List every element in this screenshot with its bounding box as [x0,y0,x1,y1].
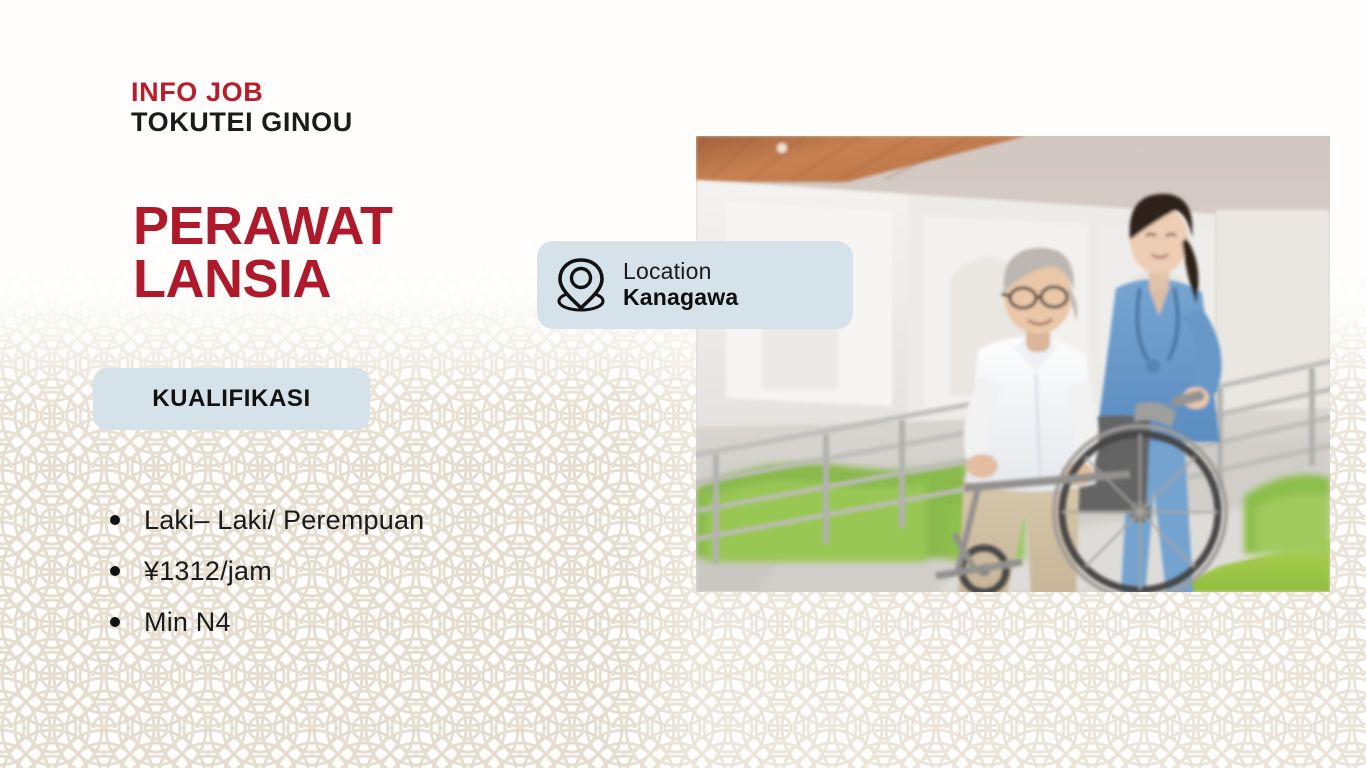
list-item: ¥1312/jam [110,546,424,596]
job-photo [696,136,1330,592]
location-badge: Location Kanagawa [537,241,853,329]
map-pin-icon [555,256,607,314]
qualification-item-text: Min N4 [144,607,231,638]
list-item: Laki– Laki/ Perempuan [110,495,424,545]
qualification-item-text: Laki– Laki/ Perempuan [144,505,424,536]
location-text-group: Location Kanagawa [623,259,738,311]
list-item: Min N4 [110,597,424,647]
job-photo-illustration [696,136,1330,592]
qualification-badge-label: KUALIFIKASI [152,385,311,413]
qualification-item-text: ¥1312/jam [144,556,272,587]
location-label: Location [623,259,738,285]
location-value: Kanagawa [623,285,738,311]
bullet-icon [110,617,120,627]
left-content-column: INFO JOB TOKUTEI GINOU PERAWAT LANSIA KU… [0,0,640,768]
bullet-icon [110,515,120,525]
kicker-block: INFO JOB TOKUTEI GINOU [131,79,353,136]
bullet-icon [110,566,120,576]
qualification-list: Laki– Laki/ Perempuan ¥1312/jam Min N4 [110,495,424,648]
poster-canvas: INFO JOB TOKUTEI GINOU PERAWAT LANSIA KU… [0,0,1366,768]
page-title: PERAWAT LANSIA [133,200,393,306]
kicker-info-job: INFO JOB [131,79,353,106]
kicker-tokutei-ginou: TOKUTEI GINOU [131,109,353,136]
qualification-badge: KUALIFIKASI [93,368,370,430]
